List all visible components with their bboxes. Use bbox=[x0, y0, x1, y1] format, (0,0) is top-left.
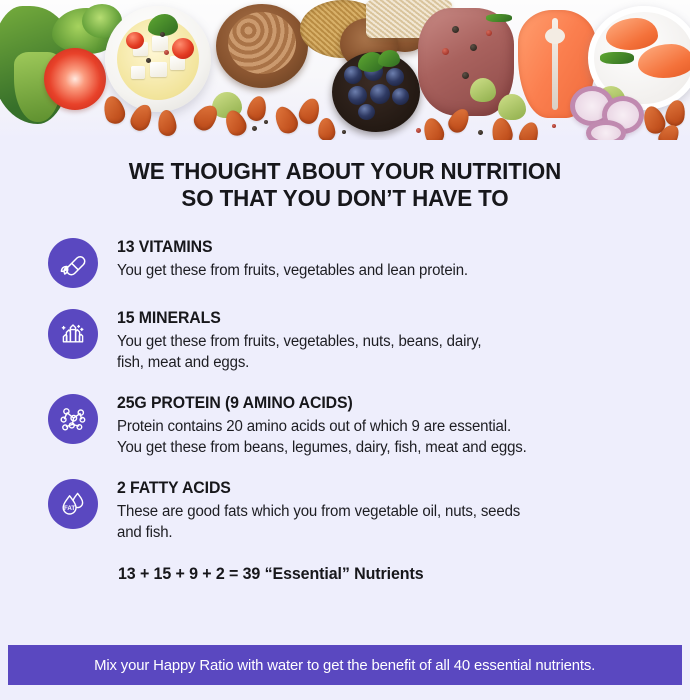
fat-droplet-icon: FAT bbox=[48, 479, 98, 529]
peppercorn bbox=[478, 130, 483, 135]
peppercorn bbox=[462, 72, 469, 79]
rosemary-garnish bbox=[600, 52, 634, 64]
protein-molecule-icon bbox=[48, 394, 98, 444]
benefit-text-vitamins: 13 VITAMINS You get these from fruits, v… bbox=[98, 236, 477, 281]
benefit-title: 2 FATTY ACIDS bbox=[117, 478, 514, 498]
benefit-text-fatty-acids: 2 FATTY ACIDS These are good fats which … bbox=[98, 477, 530, 543]
blueberry bbox=[348, 86, 367, 105]
benefit-title: 13 VITAMINS bbox=[117, 237, 463, 257]
brussels-sprout bbox=[498, 94, 526, 120]
benefits-list: 13 VITAMINS You get these from fruits, v… bbox=[0, 236, 690, 543]
mineral-crystals-icon bbox=[48, 309, 98, 359]
benefit-title: 25G PROTEIN (9 AMINO ACIDS) bbox=[117, 393, 520, 413]
benefit-text-minerals: 15 MINERALS You get these from fruits, v… bbox=[98, 307, 491, 373]
brussels-sprout bbox=[470, 78, 496, 102]
page-headline: WE THOUGHT ABOUT YOUR NUTRITION SO THAT … bbox=[17, 158, 673, 212]
benefit-text-protein: 25G PROTEIN (9 AMINO ACIDS) Protein cont… bbox=[98, 392, 537, 458]
infographic-page: WE THOUGHT ABOUT YOUR NUTRITION SO THAT … bbox=[0, 0, 690, 700]
benefit-item-protein: 25G PROTEIN (9 AMINO ACIDS) Protein cont… bbox=[48, 392, 660, 458]
food-photo-banner bbox=[0, 0, 690, 140]
blueberry bbox=[358, 104, 375, 120]
cherry-tomato bbox=[172, 38, 194, 59]
peppercorn bbox=[452, 26, 459, 33]
blueberry bbox=[370, 84, 390, 104]
peppercorn bbox=[470, 44, 477, 51]
red-peppercorn bbox=[552, 124, 556, 128]
feta-cube bbox=[150, 62, 167, 77]
red-peppercorn bbox=[416, 128, 421, 133]
headline-line-2: SO THAT YOU DON’T HAVE TO bbox=[17, 185, 673, 212]
cherry-tomato bbox=[126, 32, 144, 49]
peppercorn bbox=[264, 120, 268, 124]
red-peppercorn bbox=[486, 30, 492, 36]
peppercorn bbox=[160, 32, 165, 37]
benefit-description: Protein contains 20 amino acids out of w… bbox=[117, 416, 527, 458]
beans-heap bbox=[228, 12, 296, 74]
feta-cube bbox=[152, 36, 168, 51]
feta-cube bbox=[131, 66, 145, 79]
svg-text:FAT: FAT bbox=[64, 505, 75, 512]
benefit-title: 15 MINERALS bbox=[117, 308, 476, 328]
footer-callout-bar: Mix your Happy Ratio with water to get t… bbox=[8, 645, 682, 685]
benefit-description: These are good fats which you from veget… bbox=[117, 501, 520, 543]
blueberry bbox=[392, 88, 409, 105]
red-onion-ring bbox=[586, 120, 626, 140]
red-peppercorn bbox=[164, 50, 169, 55]
peppercorn bbox=[146, 58, 151, 63]
tomato-slice bbox=[44, 48, 106, 110]
peppercorn bbox=[342, 130, 346, 134]
benefit-description: You get these from fruits, vegetables, n… bbox=[117, 331, 481, 373]
benefit-item-fatty-acids: FAT 2 FATTY ACIDS These are good fats wh… bbox=[48, 477, 660, 543]
red-peppercorn bbox=[442, 48, 449, 55]
footer-callout-text: Mix your Happy Ratio with water to get t… bbox=[94, 657, 595, 674]
pill-capsule-leaf-icon bbox=[48, 238, 98, 288]
salmon-bone bbox=[545, 28, 565, 44]
rosemary-sprig bbox=[486, 14, 512, 22]
benefit-item-vitamins: 13 VITAMINS You get these from fruits, v… bbox=[48, 236, 660, 288]
nutrient-total-summary: 13 + 15 + 9 + 2 = 39 “Essential” Nutrien… bbox=[118, 564, 673, 584]
benefit-item-minerals: 15 MINERALS You get these from fruits, v… bbox=[48, 307, 660, 373]
headline-line-1: WE THOUGHT ABOUT YOUR NUTRITION bbox=[17, 158, 673, 185]
blueberry bbox=[386, 68, 404, 86]
peppercorn bbox=[252, 126, 257, 131]
benefit-description: You get these from fruits, vegetables an… bbox=[117, 260, 468, 281]
mint-leaf bbox=[378, 50, 400, 67]
